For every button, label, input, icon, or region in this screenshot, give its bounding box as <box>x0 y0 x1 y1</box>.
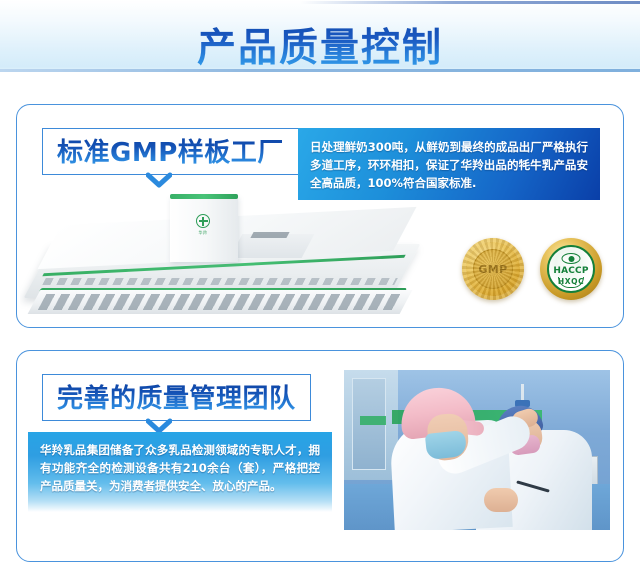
description-panel-gmp-factory: 日处理鲜奶300吨，从鲜奶到最终的成品出厂严格执行多道工序，环环相扣，保证了华羚… <box>298 128 600 200</box>
chevron-down-icon <box>146 172 172 188</box>
section-heading-gmp-factory: 标准GMP样板工厂 <box>57 132 284 169</box>
haccp-eye-icon <box>562 253 581 264</box>
page-header: 产品质量控制 <box>0 0 640 72</box>
gmp-badge: GMP <box>462 238 524 300</box>
haccp-badge: HACCP HXQC <box>540 238 602 300</box>
factory-rooftop-equipment <box>250 232 289 238</box>
header-bottom-rule <box>0 69 640 72</box>
section-heading-box-gmp-factory: 标准GMP样板工厂 <box>42 128 299 175</box>
haccp-badge-inner: HACCP HXQC <box>547 245 595 293</box>
lab-green-sign-small <box>360 416 386 425</box>
gmp-badge-rim <box>462 238 524 300</box>
factory-building-image: 华羚 <box>20 192 424 324</box>
section-heading-box-quality-team: 完善的质量管理团队 <box>42 374 311 421</box>
page-title: 产品质量控制 <box>0 17 640 73</box>
description-panel-quality-team: 华羚乳品集团储备了众多乳品检测领域的专职人才，拥有功能齐全的检测设备共有210余… <box>28 432 332 512</box>
technician-hand-on-bench <box>484 488 518 512</box>
header-top-accent-line <box>300 1 640 4</box>
factory-tower-green-cap <box>170 194 238 199</box>
factory-window-row <box>38 294 403 310</box>
haccp-bowl-icon <box>558 277 584 288</box>
description-text-quality-team: 华羚乳品集团储备了众多乳品检测领域的专职人才，拥有功能齐全的检测设备共有210余… <box>28 432 332 495</box>
section-heading-quality-team: 完善的质量管理团队 <box>57 378 296 415</box>
haccp-badge-label: HACCP <box>549 266 593 276</box>
factory-upper-window-row <box>42 278 398 285</box>
laboratory-technicians-image <box>344 370 610 530</box>
company-logo-icon: 华羚 <box>192 214 214 240</box>
description-text-gmp-factory: 日处理鲜奶300吨，从鲜奶到最终的成品出厂严格执行多道工序，环环相扣，保证了华羚… <box>298 128 600 192</box>
